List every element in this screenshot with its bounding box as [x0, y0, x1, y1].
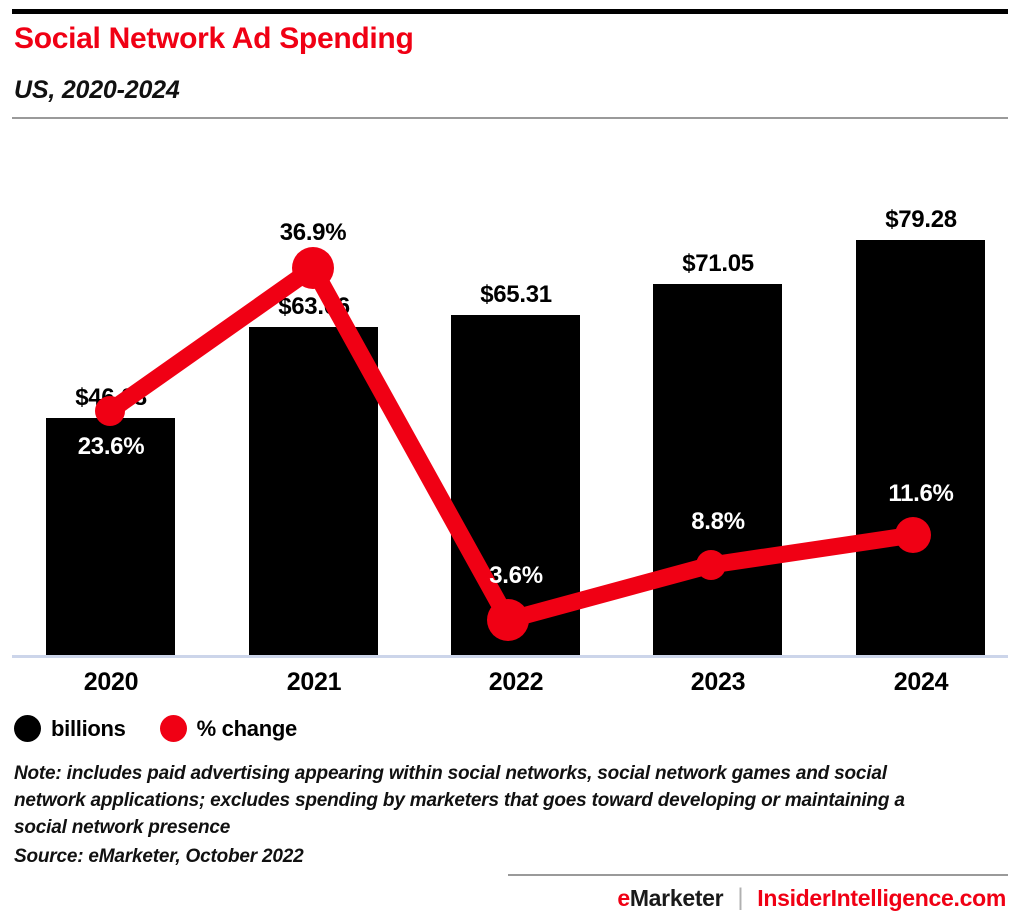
chart-notes: Note: includes paid advertising appearin… [14, 760, 974, 870]
source-text: Source: eMarketer, October 2022 [14, 843, 974, 870]
legend-label-billions: billions [51, 716, 126, 742]
bar-2023 [653, 284, 782, 656]
bar-2022 [451, 315, 580, 656]
bar-value-2024: $79.28 [850, 206, 992, 234]
brand-emarketer: eMarketer [617, 885, 723, 912]
legend-circle-icon-percent-change [160, 715, 187, 742]
x-axis-line [12, 655, 1008, 658]
legend-item-billions: billions [14, 715, 126, 742]
bar-value-2020: $46.08 [40, 384, 182, 412]
chart-page: Social Network Ad Spending US, 2020-2024… [0, 0, 1020, 920]
x-tick-2021: 2021 [243, 668, 385, 697]
legend-circle-icon-billions [14, 715, 41, 742]
pct-label-2021: 36.9% [242, 219, 384, 247]
bar-value-2021: $63.06 [243, 293, 385, 321]
pct-label-2020: 23.6% [40, 433, 182, 461]
pct-label-2022: 3.6% [445, 562, 587, 590]
note-text: Note: includes paid advertising appearin… [14, 760, 949, 841]
x-tick-2020: 2020 [40, 668, 182, 697]
footer-branding: eMarketer | InsiderIntelligence.com [617, 884, 1006, 912]
legend-item-percent-change: % change [160, 715, 297, 742]
bar-2021 [249, 327, 378, 656]
bar-value-2022: $65.31 [445, 281, 587, 309]
brand-website[interactable]: InsiderIntelligence.com [757, 885, 1006, 912]
brand-marketer-text: Marketer [630, 885, 724, 911]
pct-label-2023: 8.8% [647, 508, 789, 536]
chart-legend: billions % change [14, 715, 297, 742]
footer-divider [508, 874, 1008, 876]
legend-label-percent-change: % change [197, 716, 297, 742]
footer-separator: | [737, 884, 743, 912]
x-tick-2023: 2023 [647, 668, 789, 697]
bar-2024 [856, 240, 985, 656]
x-tick-2024: 2024 [850, 668, 992, 697]
bar-value-2023: $71.05 [647, 250, 789, 278]
pct-label-2024: 11.6% [850, 480, 992, 508]
brand-e-letter: e [617, 885, 630, 911]
x-tick-2022: 2022 [445, 668, 587, 697]
